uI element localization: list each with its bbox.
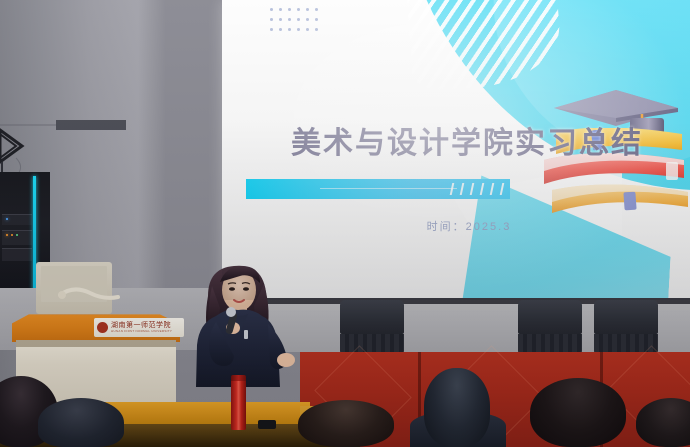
- slide-accent-bar: [246, 179, 510, 199]
- accent-bar-ticks: [451, 183, 503, 195]
- rack-indicator-led: [6, 234, 8, 236]
- audience-hair: [298, 400, 394, 447]
- thermos-cap: [231, 375, 246, 381]
- conference-chair: [518, 300, 582, 354]
- slide-date: 时间：2025.3: [222, 218, 690, 234]
- university-seal-icon: [97, 322, 108, 333]
- projection-screen: 美术与设计学院实习总结 时间：2025.3: [222, 0, 690, 300]
- podium-university-sign: 湖南第一师范学院 HUNAN FIRST NORMAL UNIVERSITY: [94, 318, 184, 337]
- audience-head: [636, 398, 690, 447]
- chair-back: [340, 300, 404, 334]
- conference-chair: [340, 300, 404, 354]
- rack-panel: [2, 230, 32, 245]
- accent-bar-line: [320, 188, 457, 189]
- rack-indicator-led: [6, 218, 8, 220]
- chair-skirt: [340, 334, 404, 354]
- chair-back: [594, 300, 658, 334]
- audience-head: [424, 368, 490, 447]
- podium-edge: [16, 340, 176, 347]
- rack-indicator-led: [16, 234, 18, 236]
- chair-back: [518, 300, 582, 334]
- rack-panel: [2, 248, 32, 261]
- smartphone-on-desk: [258, 420, 276, 429]
- audience-head: [38, 398, 124, 447]
- wall-dark-band: [56, 120, 126, 130]
- rack-indicator-led: [11, 234, 13, 236]
- gooseneck-microphone: [58, 285, 120, 301]
- audience-hair: [636, 398, 690, 447]
- audience-head: [298, 400, 394, 447]
- dot-grid-decor: [270, 8, 324, 38]
- red-thermos-bottle: [231, 378, 246, 430]
- audience-hair: [38, 398, 124, 447]
- audience-head: [530, 378, 626, 447]
- woman-presenter: [186, 262, 304, 387]
- podium-sign-subtext: HUNAN FIRST NORMAL UNIVERSITY: [111, 330, 172, 333]
- lecture-hall-photo: 美术与设计学院实习总结 时间：2025.3: [0, 0, 690, 447]
- chair-skirt: [518, 334, 582, 354]
- slide-title: 美术与设计学院实习总结: [222, 118, 690, 162]
- conference-chair: [594, 300, 658, 354]
- podium-sign-text: 湖南第一师范学院: [111, 322, 172, 329]
- audience-hair: [530, 378, 626, 447]
- audience-hair: [424, 368, 490, 447]
- truss-bracket: [0, 128, 30, 178]
